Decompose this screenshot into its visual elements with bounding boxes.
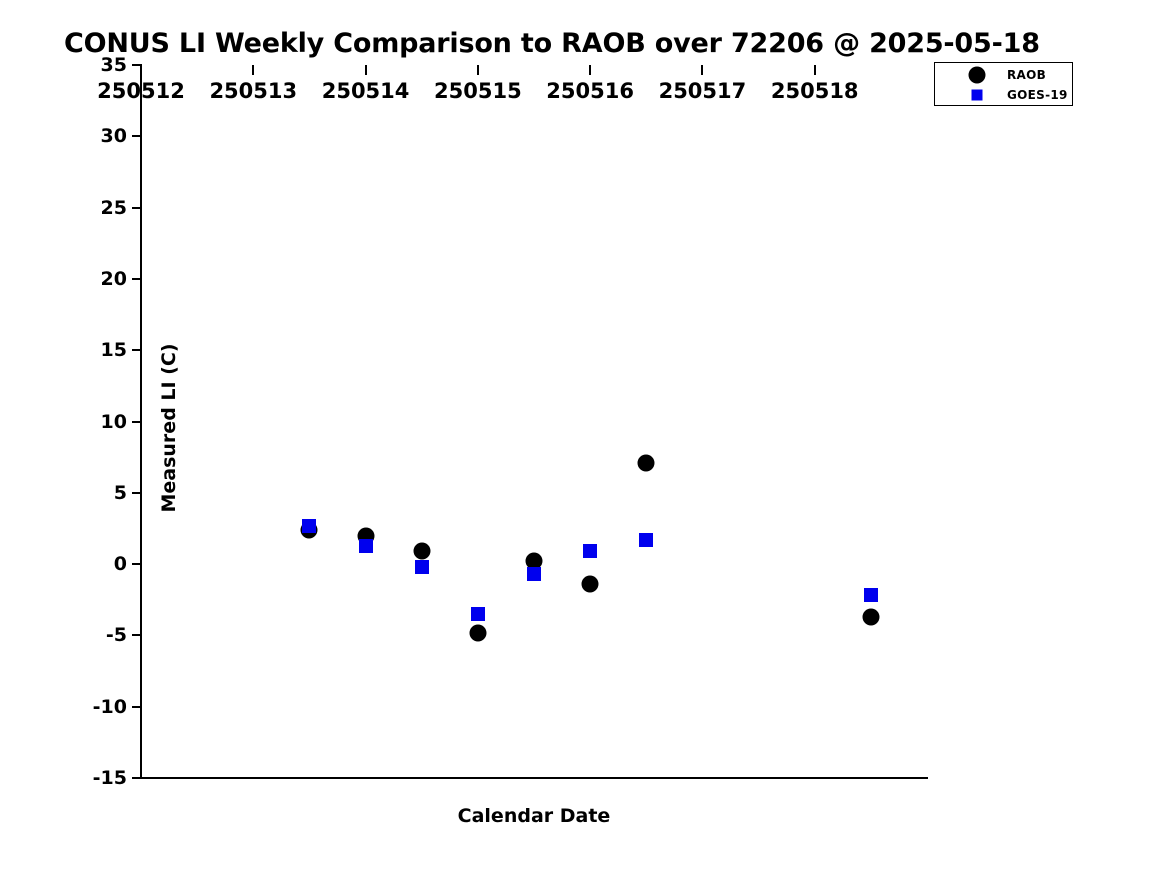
data-point-goes-19	[864, 588, 878, 602]
y-tick-label: 15	[101, 339, 127, 361]
y-tick: 25	[132, 207, 141, 209]
data-point-raob	[862, 608, 879, 625]
chart-title: CONUS LI Weekly Comparison to RAOB over …	[64, 28, 1040, 59]
legend-entry-raob[interactable]: RAOB	[935, 65, 1072, 85]
plot-area: 35302520151050-5-10-15 25051225051325051…	[141, 65, 927, 778]
y-tick-label: -15	[93, 767, 127, 789]
y-tick-label: 0	[114, 553, 127, 575]
legend-marker-circle-icon	[967, 65, 987, 85]
y-tick: 5	[132, 492, 141, 494]
x-tick	[589, 65, 591, 75]
data-point-raob	[582, 576, 599, 593]
x-tick	[477, 65, 479, 75]
y-tick-label: 25	[101, 197, 127, 219]
x-tick-label: 250516	[546, 79, 634, 103]
y-tick-label: -5	[106, 624, 127, 646]
data-point-goes-19	[359, 539, 373, 553]
y-tick: 20	[132, 278, 141, 280]
data-point-raob	[413, 543, 430, 560]
chart-legend: RAOBGOES-19	[934, 62, 1073, 106]
data-point-goes-19	[583, 544, 597, 558]
x-tick-label: 250517	[659, 79, 747, 103]
x-tick	[701, 65, 703, 75]
x-tick-label: 250515	[434, 79, 522, 103]
circle-icon	[969, 67, 986, 84]
x-tick	[814, 65, 816, 75]
x-tick	[252, 65, 254, 75]
x-tick-label: 250514	[322, 79, 410, 103]
y-tick: 10	[132, 421, 141, 423]
x-tick	[365, 65, 367, 75]
data-point-goes-19	[415, 560, 429, 574]
y-tick: 30	[132, 135, 141, 137]
x-tick-label: 250518	[771, 79, 859, 103]
x-tick-label: 250513	[209, 79, 297, 103]
legend-label: GOES-19	[1007, 88, 1068, 102]
square-icon	[972, 90, 983, 101]
data-point-raob	[469, 624, 486, 641]
data-point-raob	[638, 454, 655, 471]
legend-marker-square-icon	[967, 85, 987, 105]
chart-page: CONUS LI Weekly Comparison to RAOB over …	[0, 0, 1167, 875]
legend-label: RAOB	[1007, 68, 1046, 82]
y-tick: -5	[132, 634, 141, 636]
y-tick-label: 5	[114, 482, 127, 504]
y-tick: -15	[132, 777, 141, 779]
data-point-goes-19	[527, 567, 541, 581]
y-tick-label: 10	[101, 411, 127, 433]
data-point-goes-19	[302, 519, 316, 533]
y-tick: 0	[132, 563, 141, 565]
y-tick: 15	[132, 349, 141, 351]
data-point-goes-19	[471, 607, 485, 621]
y-tick: -10	[132, 706, 141, 708]
legend-entry-goes-19[interactable]: GOES-19	[935, 85, 1072, 105]
x-tick	[140, 65, 142, 75]
x-tick-label: 250512	[97, 79, 185, 103]
data-point-goes-19	[639, 533, 653, 547]
y-tick-label: 20	[101, 268, 127, 290]
y-tick-label: 35	[101, 54, 127, 76]
y-tick-label: 30	[101, 125, 127, 147]
y-axis-label: Measured LI (C)	[158, 308, 180, 548]
y-tick-label: -10	[93, 696, 127, 718]
x-axis-label: Calendar Date	[141, 805, 927, 827]
